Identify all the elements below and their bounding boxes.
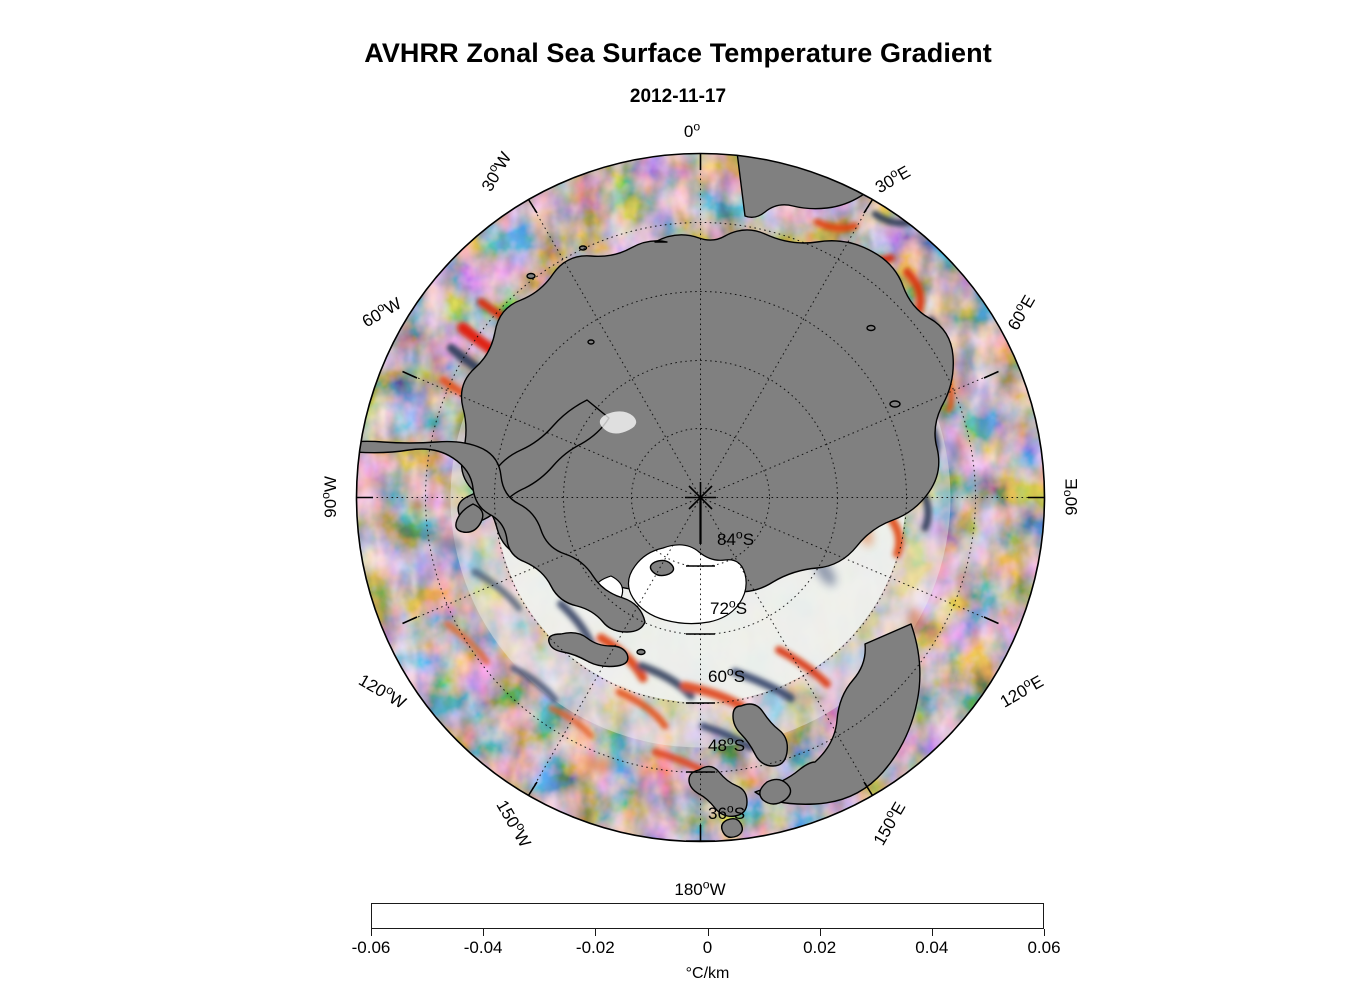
colorbar-tick: [595, 929, 596, 936]
polar-map[interactable]: 84oS 72oS 60oS 48oS 36oS: [355, 152, 1046, 843]
colorbar-tick: [820, 929, 821, 936]
figure-subtitle: 2012-11-17: [0, 86, 1356, 108]
colorbar-tick-label: -0.04: [464, 938, 503, 958]
lat-label-60: 60oS: [708, 667, 745, 687]
colorbar-tick-label: 0.02: [803, 938, 836, 958]
colorbar-tick: [483, 929, 484, 936]
lat-label-84: 84oS: [717, 530, 754, 550]
colorbar-tick: [371, 929, 372, 936]
lon-label-180W: 180oW: [674, 880, 725, 900]
colorbar-tick: [1044, 929, 1045, 936]
lon-label-90W: 90oW: [321, 476, 341, 518]
colorbar-tick-label: -0.06: [352, 938, 391, 958]
colorbar-unit-label: °C/km: [371, 965, 1044, 983]
lat-label-36: 36oS: [708, 804, 745, 824]
map-canvas: [355, 152, 1046, 843]
colorbar-tick-label: -0.02: [576, 938, 615, 958]
lon-label-90E: 90oE: [1062, 478, 1082, 515]
lat-label-48: 48oS: [708, 736, 745, 756]
falkland-islands: [650, 560, 673, 575]
colorbar-tick-label: 0.06: [1027, 938, 1060, 958]
colorbar-tick: [932, 929, 933, 936]
colorbar-tick-label: 0: [703, 938, 712, 958]
figure-root: AVHRR Zonal Sea Surface Temperature Grad…: [0, 0, 1356, 1000]
colorbar-tick-label: 0.04: [915, 938, 948, 958]
colorbar-tick: [708, 929, 709, 936]
lat-label-72: 72oS: [710, 599, 747, 619]
colorbar[interactable]: -0.06 -0.04 -0.02 0 0.02 0.04 0.06 °C/km: [371, 903, 1044, 929]
colorbar-gradient: [371, 903, 1044, 929]
page-title: AVHRR Zonal Sea Surface Temperature Grad…: [0, 38, 1356, 69]
lon-label-0: 0o: [684, 122, 700, 142]
map-data-layer: [355, 152, 1046, 843]
